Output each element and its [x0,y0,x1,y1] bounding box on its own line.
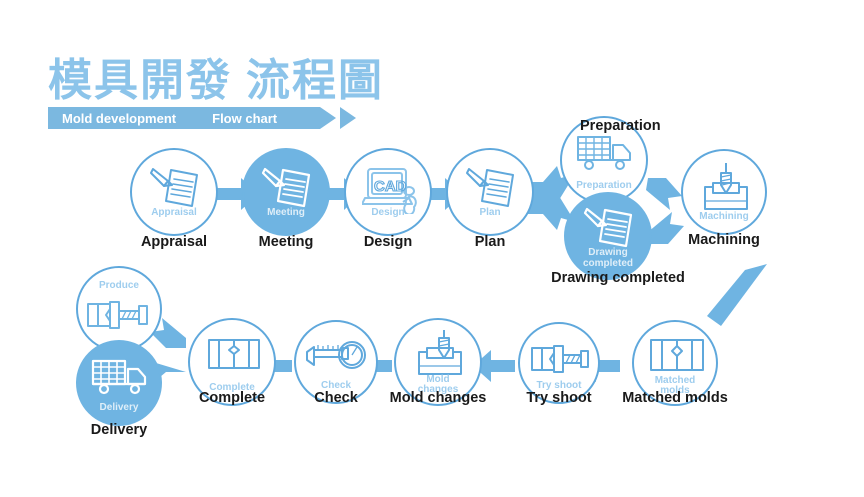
delivery-inner-label: Delivery [78,403,160,413]
produce-inner-label: Produce [78,281,160,291]
caliper-gauge-icon [305,338,369,378]
plan-circle[interactable]: Plan [446,148,534,236]
delivery-circle[interactable]: Delivery [76,340,162,426]
preparation-inner-label: Preparation [562,181,646,191]
drawing-completed-label: Drawing completed [528,270,708,286]
delivery-truck-icon [575,134,637,178]
plan-label: Plan [420,234,560,250]
injection-screw-icon [86,300,154,332]
complete-label: Complete [162,390,302,406]
drill-mold-icon [699,161,753,217]
meeting-circle[interactable]: Meeting [242,148,330,236]
design-circle[interactable]: CAD Design [344,148,432,236]
machining-label: Machining [654,232,794,248]
pen-document-icon [260,164,316,214]
preparation-label: Preparation [580,118,740,134]
try-shoot-label: Try shoot [489,390,629,406]
pen-document-icon [148,164,204,214]
pen-document-icon [582,204,638,254]
pen-document-icon [464,164,520,214]
drawing-completed-inner-label-line2: completed [566,259,650,269]
appraisal-circle[interactable]: Appraisal [130,148,218,236]
injection-screw-icon [530,344,592,376]
cad-icon-text: CAD [374,178,407,195]
mold-halves-icon [648,336,706,380]
drawing-completed-circle[interactable]: Drawing completed [564,192,652,280]
mold-halves-icon [205,336,263,380]
cad-monitor-icon: CAD [362,166,418,214]
delivery-label: Delivery [49,422,189,438]
machining-circle[interactable]: Machining [681,149,767,235]
drill-mold-icon [413,328,467,384]
flowchart-canvas: 模具開發流程圖 Mold development Flow chart [0,0,864,497]
delivery-truck-icon [90,358,152,402]
